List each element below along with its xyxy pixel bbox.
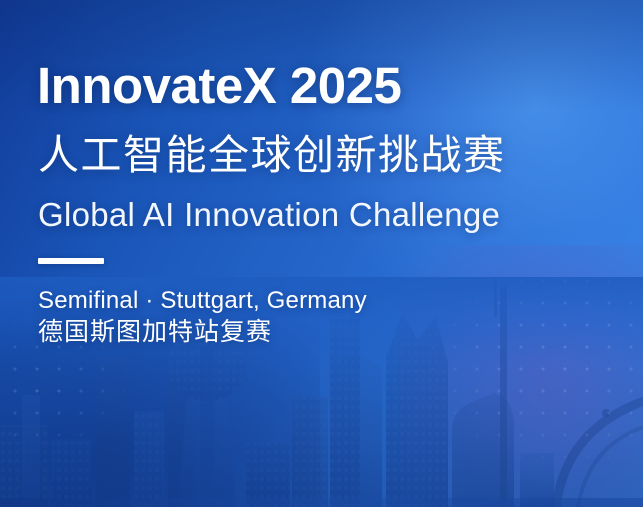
venue-line-english: Semifinal · Stuttgart, Germany [38, 286, 367, 315]
event-poster: InnovateX 2025 人工智能全球创新挑战赛 Global AI Inn… [0, 0, 643, 507]
accent-divider [38, 258, 104, 264]
poster-title: InnovateX 2025 [37, 57, 401, 115]
venue-line-chinese: 德国斯图加特站复赛 [38, 317, 272, 348]
headline-english: Global AI Innovation Challenge [38, 196, 500, 234]
headline-chinese: 人工智能全球创新挑战赛 [38, 131, 506, 179]
